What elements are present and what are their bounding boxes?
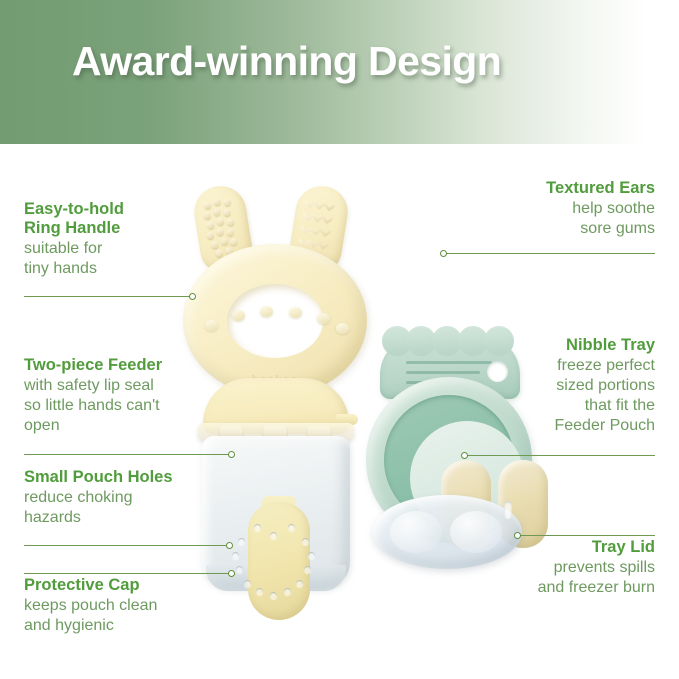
callout-protective-cap-body: keeps pouch clean and hygienic — [24, 596, 234, 636]
callout-small-pouch-holes: Small Pouch Holes reduce choking hazards — [24, 468, 234, 528]
callout-ring-handle-title: Easy-to-hold Ring Handle — [24, 200, 224, 238]
ring-bump-texture — [205, 306, 347, 332]
callout-two-piece-feeder-title: Two-piece Feeder — [24, 356, 234, 375]
leader-line-pouch-holes — [24, 545, 229, 546]
callout-protective-cap: Protective Cap keeps pouch clean and hyg… — [24, 576, 234, 636]
header-banner: Award-winning Design — [0, 0, 679, 144]
callout-textured-ears-body: help soothe sore gums — [435, 199, 655, 239]
callout-tray-lid-body: prevents spills and freezer burn — [435, 558, 655, 598]
callout-tray-lid-title: Tray Lid — [435, 538, 655, 557]
callout-two-piece-feeder: Two-piece Feeder with safety lip seal so… — [24, 356, 234, 436]
callout-textured-ears: Textured Ears help soothe sore gums — [435, 179, 655, 239]
callout-ring-handle: Easy-to-hold Ring Handle suitable for ti… — [24, 200, 224, 279]
leader-dot-ring-handle — [189, 293, 196, 300]
callout-nibble-tray: Nibble Tray freeze perfect sized portion… — [435, 336, 655, 436]
callout-small-pouch-holes-title: Small Pouch Holes — [24, 468, 234, 487]
leader-line-two-piece-feeder — [24, 454, 231, 455]
leader-dot-two-piece-feeder — [228, 451, 235, 458]
infographic-canvas: Award-winning Design haakaa — [0, 0, 679, 679]
callout-tray-lid: Tray Lid prevents spills and freezer bur… — [435, 538, 655, 598]
leader-dot-pouch-holes — [226, 542, 233, 549]
callout-nibble-tray-body: freeze perfect sized portions that fit t… — [435, 356, 655, 436]
leader-line-nibble-tray — [464, 455, 655, 456]
callout-textured-ears-title: Textured Ears — [435, 179, 655, 198]
leader-line-textured-ears — [443, 253, 655, 254]
leader-dot-nibble-tray — [461, 452, 468, 459]
leader-line-protective-cap — [24, 573, 231, 574]
callout-protective-cap-title: Protective Cap — [24, 576, 234, 595]
callout-two-piece-feeder-body: with safety lip seal so little hands can… — [24, 376, 234, 436]
leader-line-ring-handle — [24, 296, 192, 297]
callout-nibble-tray-title: Nibble Tray — [435, 336, 655, 355]
leader-dot-textured-ears — [440, 250, 447, 257]
feeder-silicone-pouch — [248, 502, 310, 620]
lid-grip-tab — [504, 501, 512, 519]
callout-small-pouch-holes-body: reduce choking hazards — [24, 488, 234, 528]
callout-ring-handle-body: suitable for tiny hands — [24, 239, 224, 279]
page-title: Award-winning Design — [72, 38, 501, 85]
leader-line-tray-lid — [517, 535, 655, 536]
